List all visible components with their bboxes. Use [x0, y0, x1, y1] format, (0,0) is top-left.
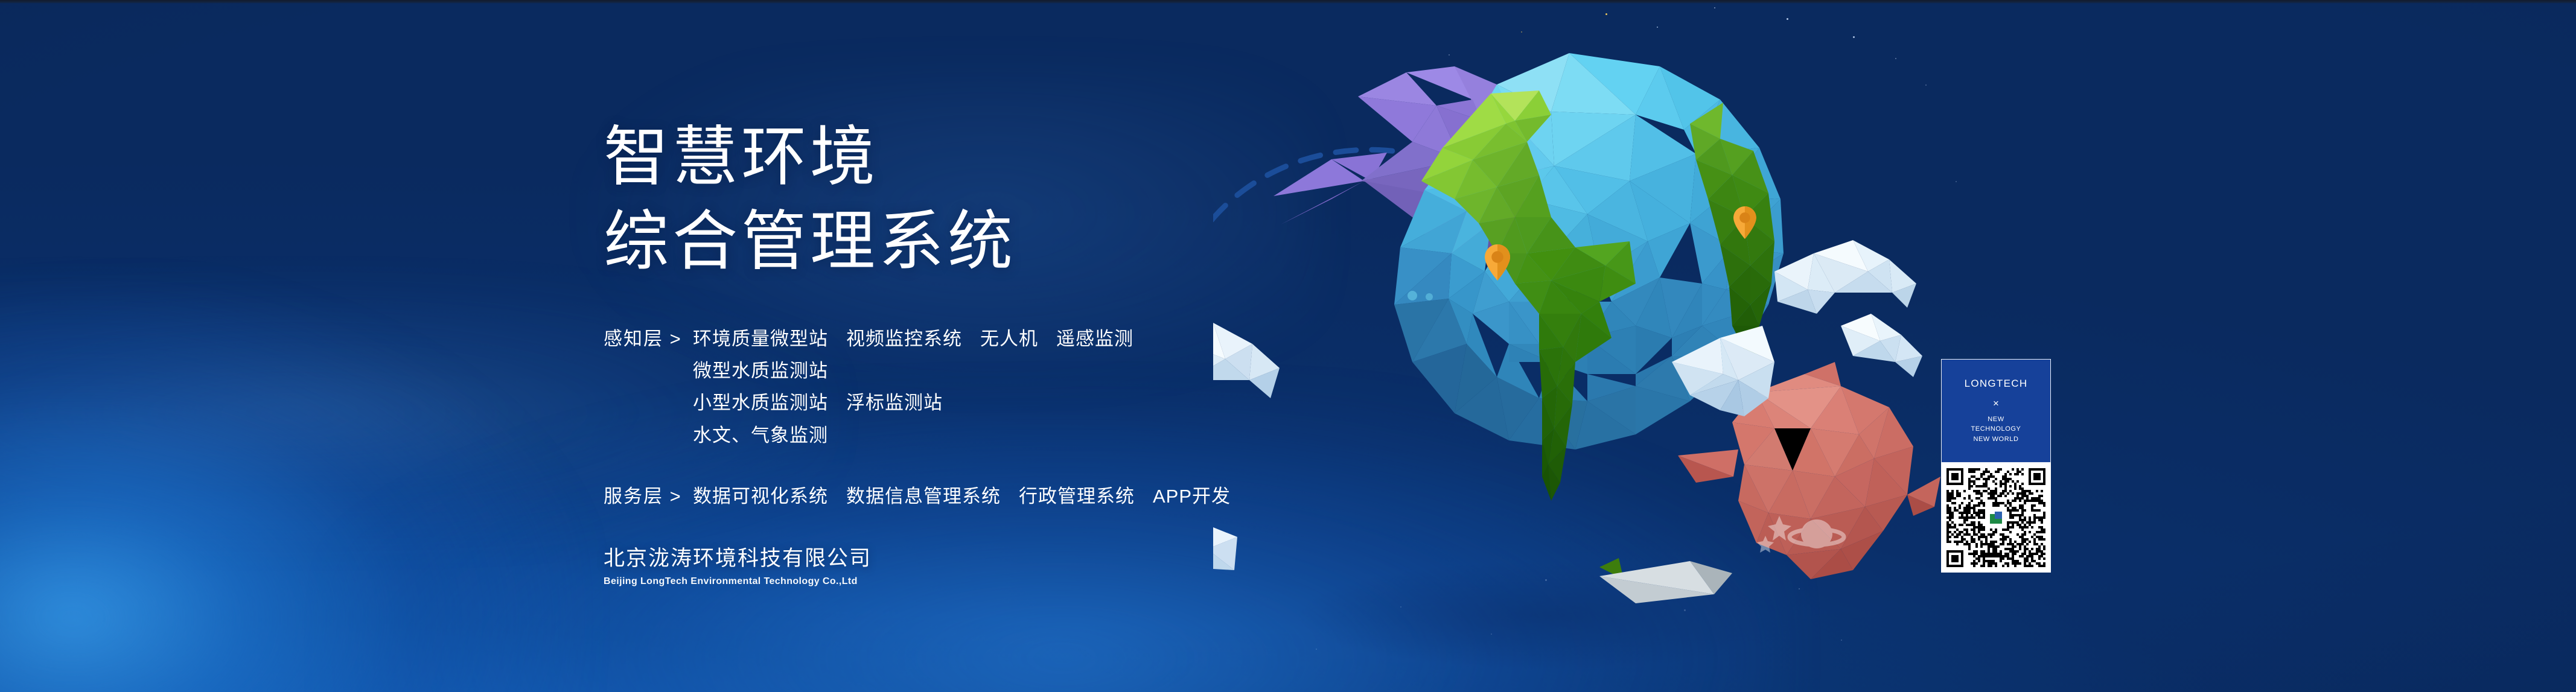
layer-item[interactable]: 微型水质监测站 — [693, 355, 1176, 387]
tagline-line-3: NEW WORLD — [1971, 434, 2021, 444]
layer-item[interactable]: 小型水质监测站 — [693, 387, 828, 419]
title-line-2: 综合管理系统 — [604, 199, 1841, 284]
layer-item[interactable]: 环境质量微型站 — [693, 323, 828, 355]
qr-code-panel[interactable] — [1941, 463, 2051, 573]
company-block: 北京泷涛环境科技有限公司 Beijing LongTech Environmen… — [604, 541, 1841, 587]
low-poly-cloud — [1841, 314, 1922, 377]
company-name-en: Beijing LongTech Environmental Technolog… — [604, 576, 1841, 587]
layer-item[interactable]: 数据可视化系统 — [693, 480, 828, 512]
tagline-line-1: NEW — [1971, 414, 2021, 424]
layer-items: 数据可视化系统数据信息管理系统行政管理系统APP开发 — [693, 480, 1249, 512]
layer-item[interactable]: 遥感监测 — [1056, 323, 1133, 355]
layer-list: 感知层 >环境质量微型站视频监控系统无人机遥感监测微型水质监测站小型水质监测站浮… — [604, 323, 1841, 513]
layer-item[interactable]: 行政管理系统 — [1019, 480, 1135, 512]
layer-item[interactable]: 浮标监测站 — [846, 387, 943, 419]
tagline-line-2: TECHNOLOGY — [1971, 424, 2021, 434]
layer-item[interactable]: 数据信息管理系统 — [846, 480, 1001, 512]
separator-x-icon: × — [1993, 398, 1999, 408]
layer-label: 感知层 > — [604, 323, 693, 355]
title-line-1: 智慧环境 — [604, 115, 1841, 199]
qr-promo-card[interactable]: LONGTECH × NEW TECHNOLOGY NEW WORLD — [1941, 359, 2051, 573]
layer-item[interactable]: 视频监控系统 — [846, 323, 962, 355]
layer-item[interactable]: 无人机 — [980, 323, 1038, 355]
banner-content: 智慧环境 综合管理系统 感知层 >环境质量微型站视频监控系统无人机遥感监测微型水… — [604, 115, 1841, 587]
qr-card-header: LONGTECH × NEW TECHNOLOGY NEW WORLD — [1941, 359, 2051, 463]
brand-tagline: NEW TECHNOLOGY NEW WORLD — [1971, 414, 2021, 444]
layer-item[interactable]: APP开发 — [1153, 480, 1231, 512]
qr-code-icon[interactable] — [1946, 468, 2045, 567]
layer-label: 服务层 > — [604, 480, 693, 512]
layer-row: 感知层 >环境质量微型站视频监控系统无人机遥感监测微型水质监测站小型水质监测站浮… — [604, 323, 1841, 451]
banner-root: LONGTECH × NEW TECHNOLOGY NEW WORLD 智慧环境… — [0, 0, 2576, 692]
layer-row: 服务层 >数据可视化系统数据信息管理系统行政管理系统APP开发 — [604, 480, 1841, 512]
page-title: 智慧环境 综合管理系统 — [604, 115, 1841, 284]
layer-item[interactable]: 水文、气象监测 — [693, 419, 1176, 451]
company-name-cn: 北京泷涛环境科技有限公司 — [604, 541, 1841, 572]
layer-items: 环境质量微型站视频监控系统无人机遥感监测微型水质监测站小型水质监测站浮标监测站水… — [693, 323, 1194, 451]
brand-name: LONGTECH — [1965, 378, 2028, 390]
